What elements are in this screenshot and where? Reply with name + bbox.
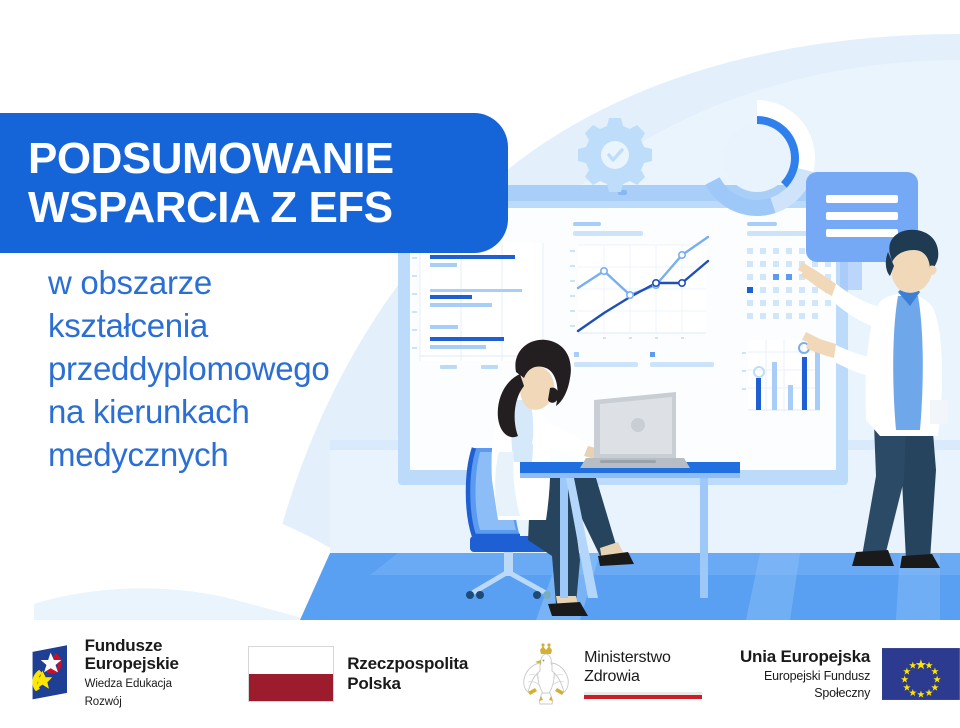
rp-line-1: Rzeczpospolita [347,654,468,674]
subtitle-line-5: medycznych [48,434,448,477]
gear-check-icon [578,118,652,192]
rp-line-2: Polska [347,674,468,694]
subtitle-line-3: przeddyplomowego [48,348,448,391]
logo-rzeczpospolita-polska: Rzeczpospolita Polska [248,620,468,728]
subtitle-line-2: kształcenia [48,305,448,348]
title-line-1: PODSUMOWANIE [28,134,508,183]
fe-line-1: Fundusze [85,637,190,655]
bubble-line-1 [826,195,898,203]
man-shirt [893,296,923,430]
subtitle-block: w obszarze kształcenia przeddyplomowego … [48,262,448,476]
logo-ministerstwo-zdrowia: Ministerstwo Zdrowia [517,620,702,728]
mz-line-2: Zdrowia [584,668,702,687]
fe-line-3: Wiedza Edukacja Rozwój [85,676,190,711]
laptop [580,392,690,468]
title-line-2: WSPARCIA Z EFS [28,183,508,232]
mz-underline [584,692,702,699]
eu-flag-icon [882,643,960,705]
mz-line-1: Ministerstwo [584,649,702,668]
bubble-line-3 [826,229,898,237]
bubble-line-2 [826,212,898,220]
polish-eagle-icon [517,641,575,707]
title-badge: PODSUMOWANIE WSPARCIA Z EFS [0,113,508,253]
footer-logo-bar: Fundusze Europejskie Wiedza Edukacja Roz… [0,620,960,728]
ue-line-2: Europejski Fundusz Społeczny [736,668,870,701]
polish-flag-icon [248,646,334,702]
subtitle-line-1: w obszarze [48,262,448,305]
logo-fundusze-europejskie: Fundusze Europejskie Wiedza Edukacja Roz… [26,620,189,728]
fe-line-2: Europejskie [85,655,190,673]
ue-line-1: Unia Europejska [740,647,870,666]
poster-canvas: PODSUMOWANIE WSPARCIA Z EFS w obszarze k… [0,0,960,728]
chart-mini-bars [742,340,820,412]
logo-unia-europejska: Unia Europejska Europejski Fundusz Społe… [736,620,960,728]
fundusze-europejskie-emblem [26,637,74,711]
subtitle-line-4: na kierunkach [48,391,448,434]
